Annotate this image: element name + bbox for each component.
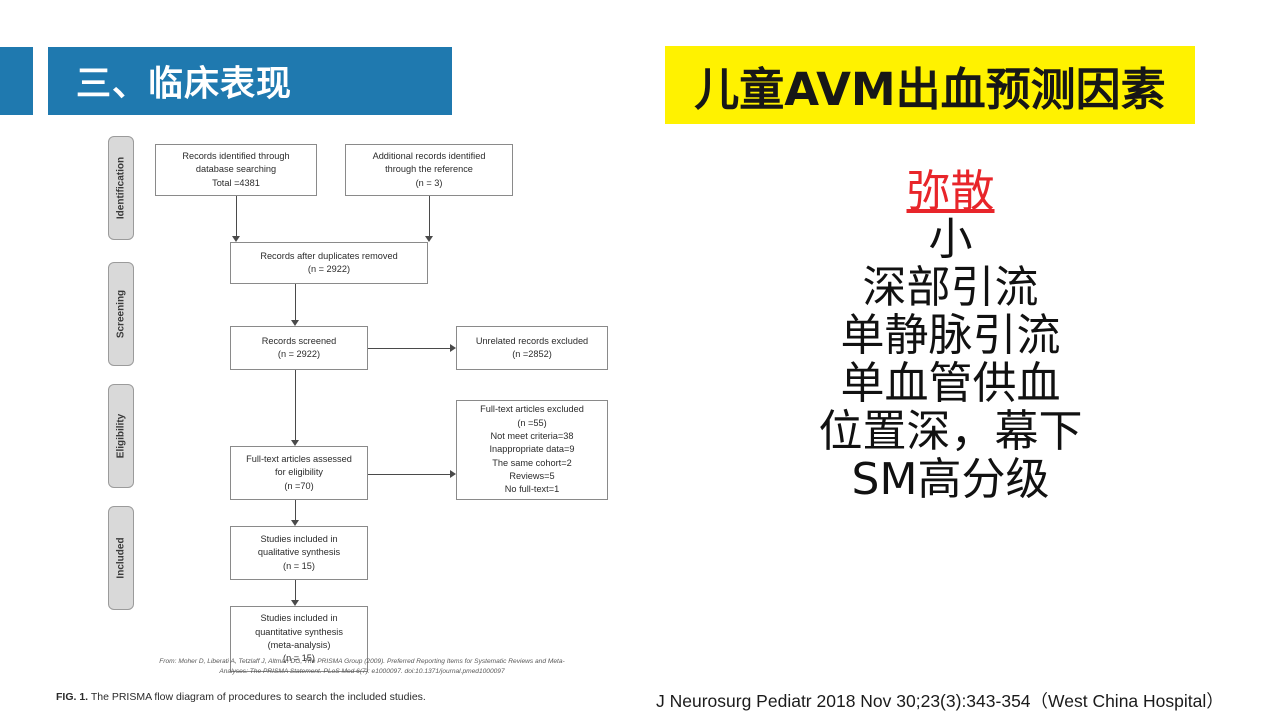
prisma-flow-diagram: Identification Screening Eligibility Inc…	[40, 128, 640, 708]
box-line: Records identified through	[182, 150, 289, 163]
box-line: (meta-analysis)	[268, 639, 331, 652]
box-line: (n =70)	[284, 480, 313, 493]
stage-pill-screening: Screening	[108, 262, 134, 366]
box-line: Studies included in	[260, 612, 337, 625]
source-note-line: From: Moher D, Liberati A, Tetzlaff J, A…	[102, 657, 622, 667]
connector-line	[368, 348, 452, 349]
box-line: (n =2852)	[512, 348, 552, 361]
box-line: Records after duplicates removed	[260, 250, 397, 263]
box-additional-records: Additional records identified through th…	[345, 144, 513, 196]
figure-caption-label: FIG. 1.	[56, 691, 88, 703]
box-unrelated-excluded: Unrelated records excluded (n =2852)	[456, 326, 608, 370]
panel-title-banner: 儿童AVM出血预测因素	[665, 46, 1195, 124]
section-title: 三、临床表现	[76, 56, 292, 107]
risk-factor-item: 位置深，幕下	[648, 408, 1253, 456]
box-line: Unrelated records excluded	[476, 335, 588, 348]
stage-label-included: Included	[116, 537, 127, 578]
risk-factor-list: 弥散 小 深部引流 单静脉引流 单血管供血 位置深，幕下 SM高分级	[648, 168, 1253, 504]
box-line: No full-text=1	[505, 483, 559, 496]
connector-line	[295, 370, 296, 442]
connector-line	[368, 474, 452, 475]
box-records-identified: Records identified through database sear…	[155, 144, 317, 196]
box-line: (n = 15)	[283, 560, 315, 573]
prisma-source-note: From: Moher D, Liberati A, Tetzlaff J, A…	[102, 657, 622, 677]
box-line: quantitative synthesis	[255, 626, 343, 639]
connector-line	[295, 500, 296, 522]
risk-factor-item: 弥散	[648, 168, 1253, 216]
box-records-screened: Records screened (n = 2922)	[230, 326, 368, 370]
box-line: Full-text articles excluded	[480, 403, 584, 416]
box-after-duplicates: Records after duplicates removed (n = 29…	[230, 242, 428, 284]
box-line: (n = 3)	[416, 177, 443, 190]
box-line: qualitative synthesis	[258, 546, 340, 559]
risk-factor-item: 单血管供血	[648, 360, 1253, 408]
source-note-line: Analyses: The PRISMA Statement. PLoS Med…	[102, 667, 622, 677]
box-line: Reviews=5	[509, 470, 554, 483]
risk-factor-item: 小	[648, 216, 1253, 264]
risk-factor-item: SM高分级	[648, 456, 1253, 504]
box-fulltext-assessed: Full-text articles assessed for eligibil…	[230, 446, 368, 500]
stage-pill-identification: Identification	[108, 136, 134, 240]
box-line: The same cohort=2	[492, 457, 571, 470]
box-fulltext-excluded: Full-text articles excluded (n =55) Not …	[456, 400, 608, 500]
box-line: Records screened	[262, 335, 337, 348]
box-line: Total =4381	[212, 177, 260, 190]
slide-canvas: 三、临床表现 Identification Screening Eligibil…	[0, 0, 1280, 720]
box-line: for eligibility	[275, 466, 323, 479]
stage-label-eligibility: Eligibility	[116, 414, 127, 458]
box-line: Additional records identified	[373, 150, 486, 163]
header-accent-block	[0, 47, 33, 115]
risk-factor-item: 深部引流	[648, 264, 1253, 312]
box-line: through the reference	[385, 163, 473, 176]
box-line: Full-text articles assessed	[246, 453, 352, 466]
box-qualitative-synthesis: Studies included in qualitative synthesi…	[230, 526, 368, 580]
connector-line	[295, 284, 296, 322]
stage-pill-included: Included	[108, 506, 134, 610]
risk-factor-item: 单静脉引流	[648, 312, 1253, 360]
box-line: Inappropriate data=9	[489, 443, 574, 456]
box-line: Not meet criteria=38	[491, 430, 574, 443]
right-panel: 儿童AVM出血预测因素 弥散 小 深部引流 单静脉引流 单血管供血 位置深，幕下…	[648, 0, 1280, 720]
figure-caption: FIG. 1. The PRISMA flow diagram of proce…	[56, 691, 636, 703]
box-line: Studies included in	[260, 533, 337, 546]
stage-label-identification: Identification	[116, 157, 127, 219]
box-line: (n = 2922)	[308, 263, 350, 276]
connector-line	[295, 580, 296, 602]
stage-pill-eligibility: Eligibility	[108, 384, 134, 488]
connector-line	[236, 196, 237, 238]
stage-label-screening: Screening	[116, 290, 127, 338]
box-line: database searching	[196, 163, 276, 176]
box-line: (n = 2922)	[278, 348, 320, 361]
connector-line	[429, 196, 430, 238]
box-line: (n =55)	[517, 417, 546, 430]
source-citation: J Neurosurg Pediatr 2018 Nov 30;23(3):34…	[656, 688, 1224, 713]
figure-caption-text: The PRISMA flow diagram of procedures to…	[88, 691, 426, 703]
section-header-bar: 三、临床表现	[48, 47, 452, 115]
panel-title: 儿童AVM出血预测因素	[694, 53, 1165, 118]
